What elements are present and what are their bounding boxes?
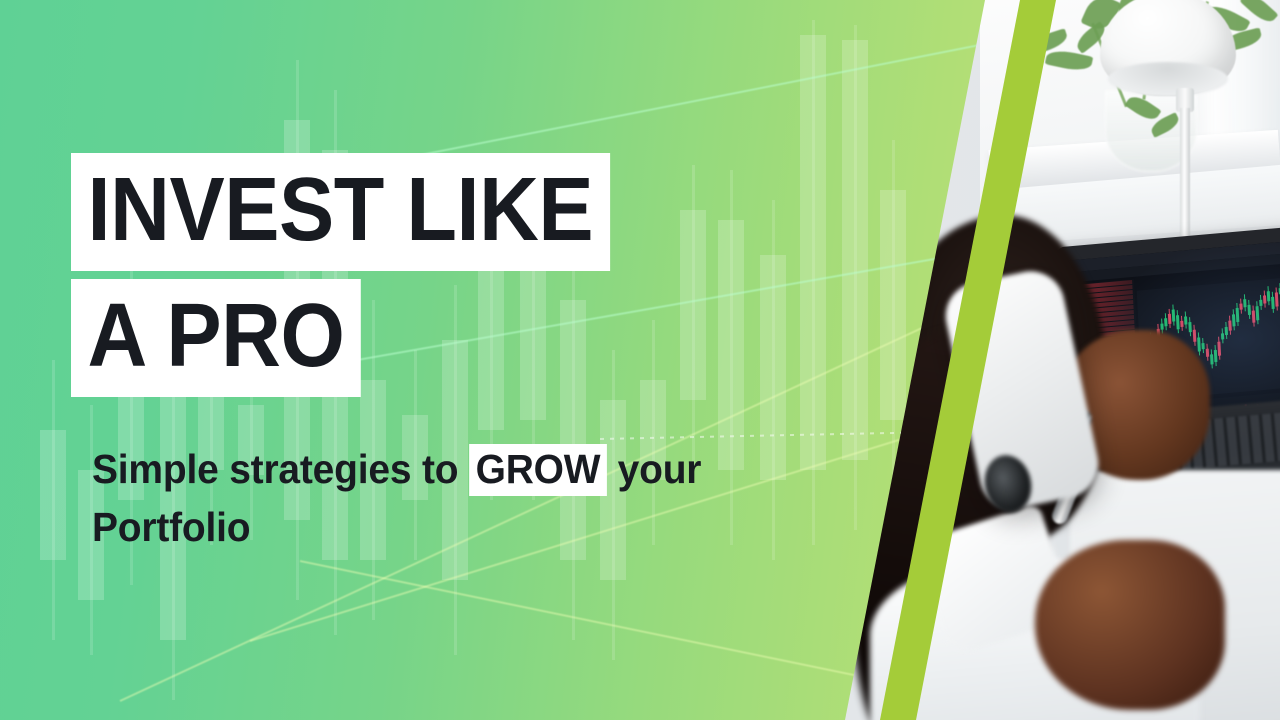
- headline: INVEST LIKE A PRO: [71, 153, 657, 397]
- hand-lower: [1035, 540, 1225, 710]
- headline-line-2: A PRO: [71, 279, 361, 397]
- subtitle-highlight: GROW: [469, 444, 607, 496]
- subtitle-before: Simple strategies to: [92, 446, 469, 492]
- desk-lamp-inner: [1108, 62, 1228, 96]
- promo-banner: INVEST LIKE A PRO Simple strategies to G…: [0, 0, 1280, 720]
- headline-line-1: INVEST LIKE: [71, 153, 610, 271]
- subtitle: Simple strategies to GROW your Portfolio: [92, 440, 757, 556]
